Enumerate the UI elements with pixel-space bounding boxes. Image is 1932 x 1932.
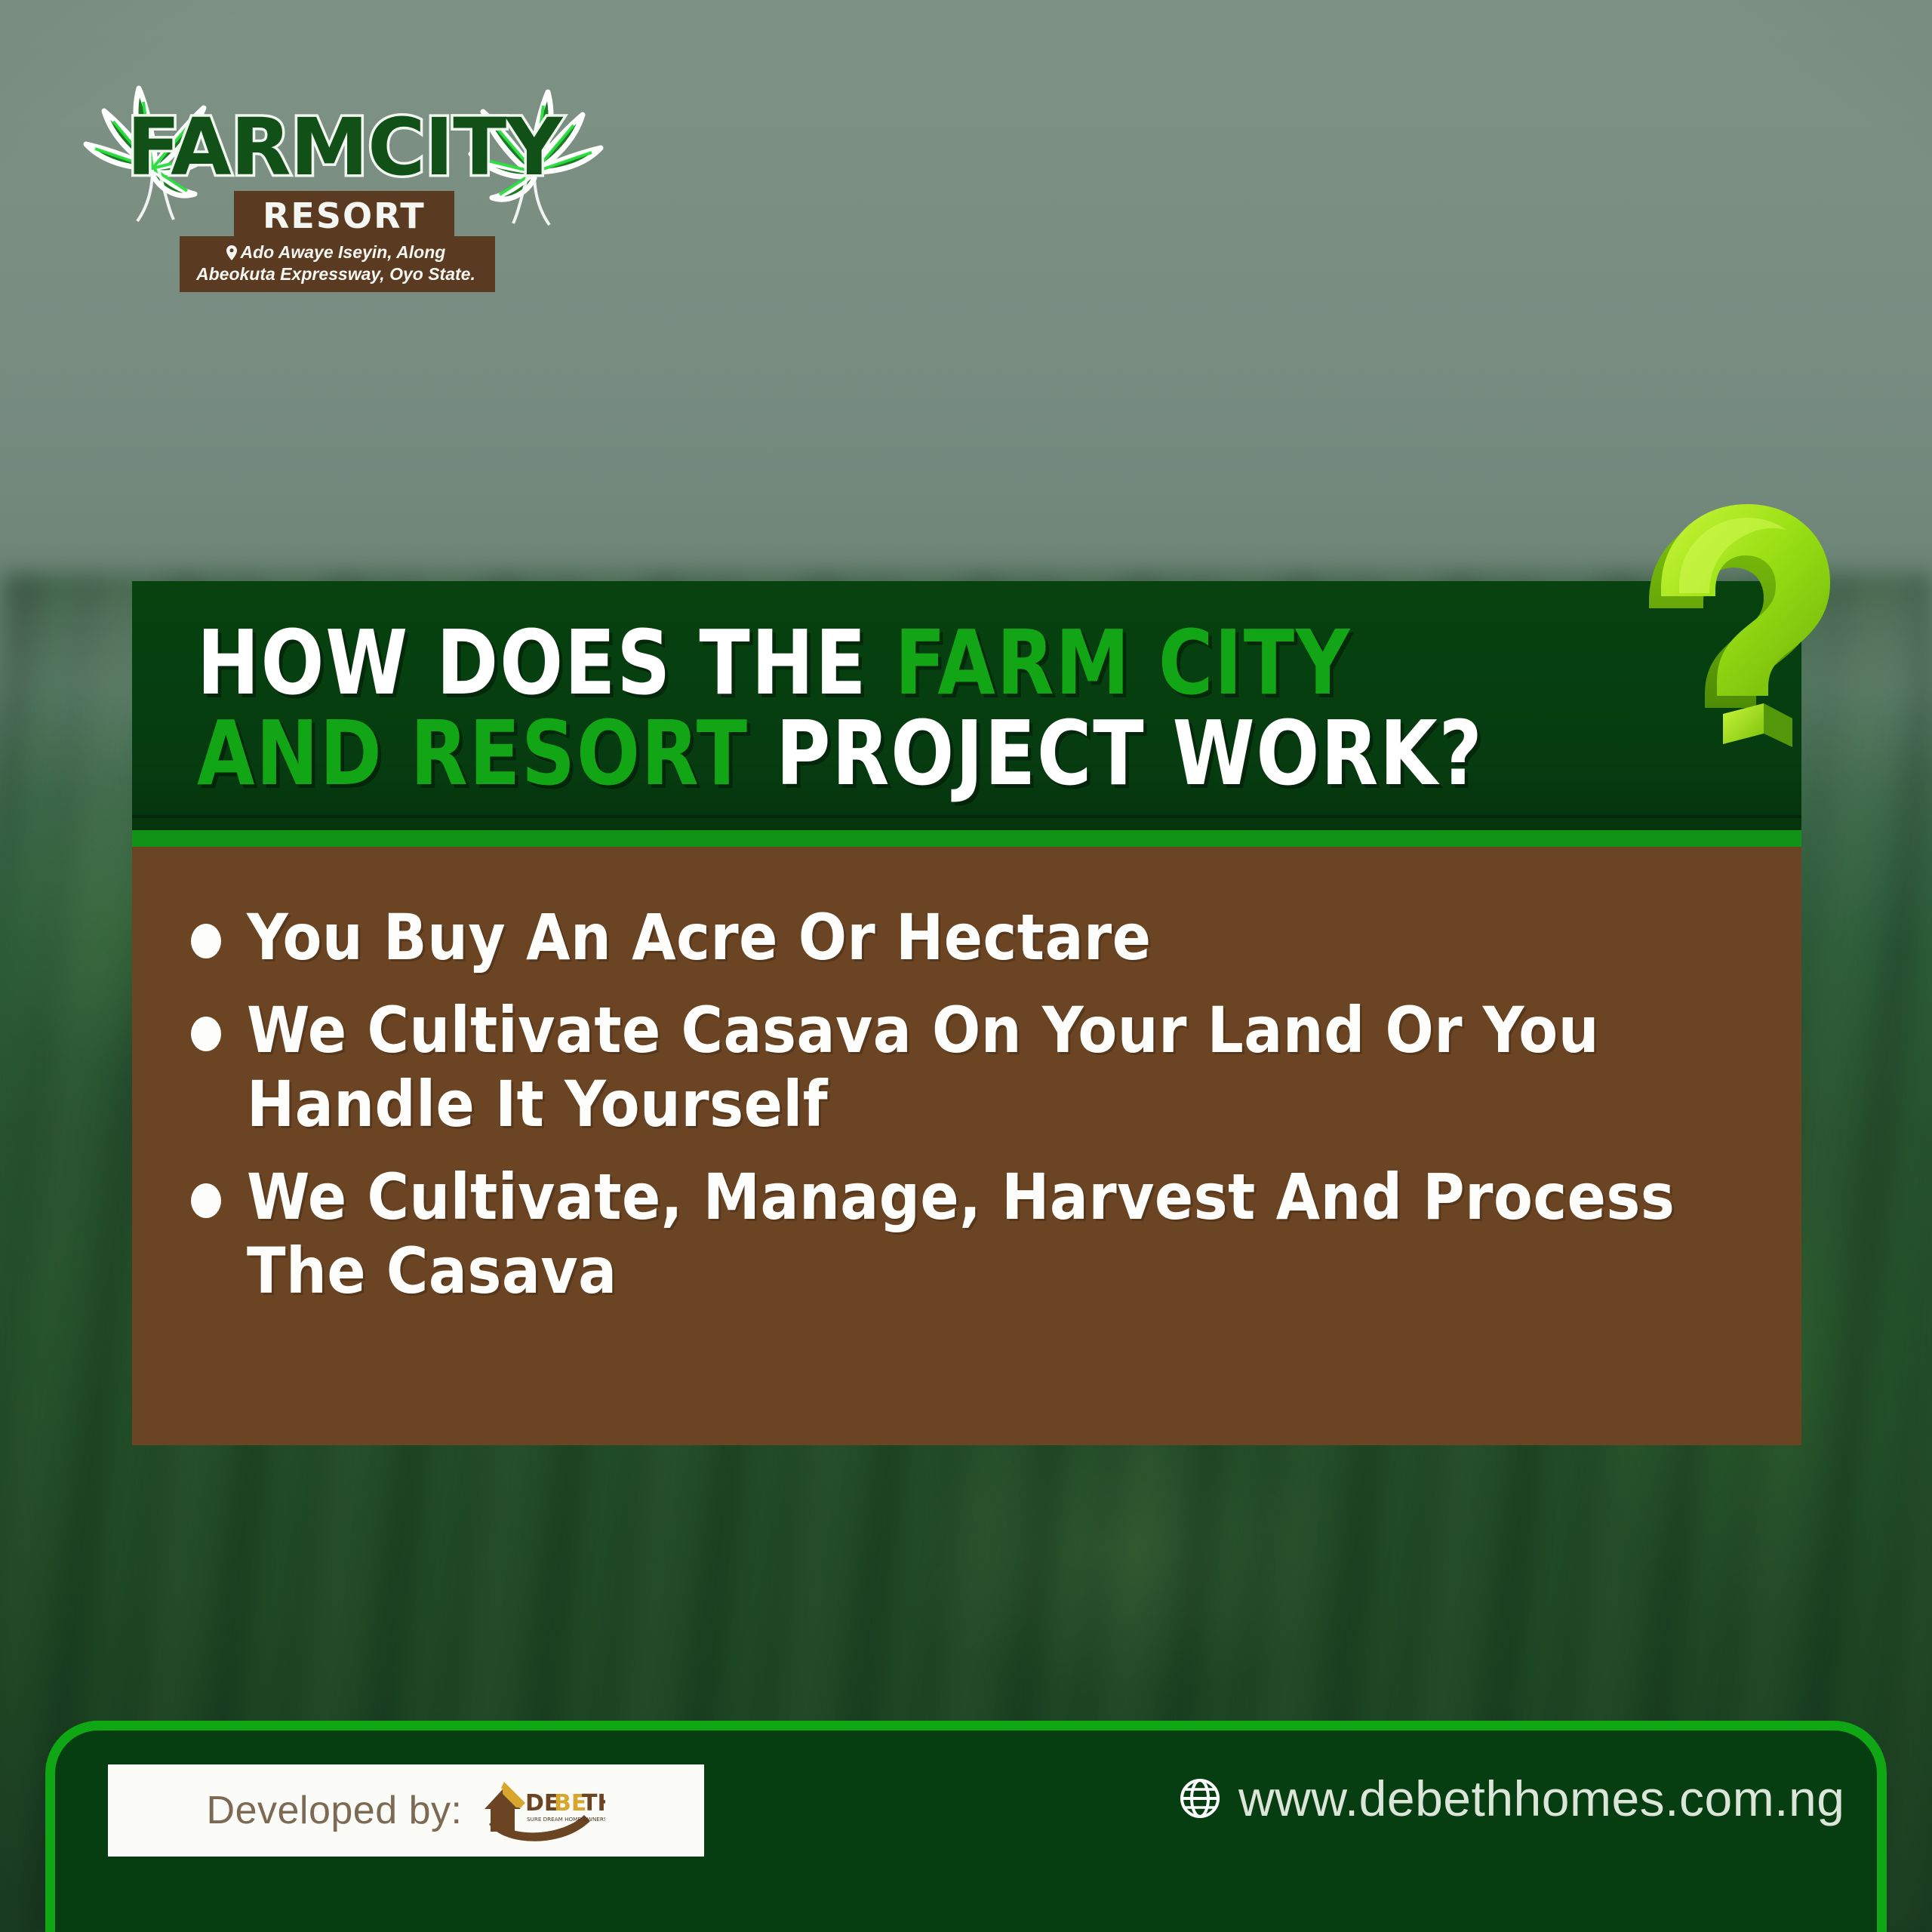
content-card: HOW DOES THE FARM CITY AND RESORT PROJEC…	[132, 581, 1801, 1445]
list-item: You Buy An Acre Or Hectare	[182, 901, 1746, 974]
headline-segment-white-1: HOW DOES THE	[197, 611, 895, 715]
developed-by-box: Developed by: DE BE TH SURE DREAM HOME O…	[108, 1764, 704, 1857]
footer-content: Developed by: DE BE TH SURE DREAM HOME O…	[55, 1730, 1877, 1932]
headline-segment-white-2: PROJECT WORK?	[749, 701, 1484, 805]
poster-canvas: FARMCITY RESORT Ado Awaye Iseyin, Along …	[0, 0, 1932, 1932]
bullet-list: You Buy An Acre Or Hectare We Cultivate …	[182, 901, 1746, 1308]
headline-line-1: HOW DOES THE FARM CITY	[197, 617, 1661, 708]
card-green-divider	[132, 830, 1801, 847]
debeth-logo: DE BE TH SURE DREAM HOME OWNERSHIP WITHO…	[478, 1774, 605, 1847]
website-url-text: www.debethhomes.com.ng	[1238, 1770, 1844, 1827]
svg-text:TH: TH	[582, 1790, 605, 1817]
globe-icon	[1180, 1778, 1220, 1819]
logo-address-plate: Ado Awaye Iseyin, Along Abeokuta Express…	[180, 236, 495, 292]
logo-resort-plate: RESORT	[234, 191, 454, 242]
website-link[interactable]: www.debethhomes.com.ng	[1180, 1770, 1844, 1827]
location-pin-icon	[226, 245, 237, 260]
card-body-panel: You Buy An Acre Or Hectare We Cultivate …	[132, 847, 1801, 1445]
question-mark-3d-icon	[1634, 498, 1853, 755]
logo-resort-label: RESORT	[263, 195, 426, 236]
card-header-banner: HOW DOES THE FARM CITY AND RESORT PROJEC…	[132, 581, 1801, 830]
list-item: We Cultivate, Manage, Harvest And Proces…	[182, 1161, 1746, 1308]
headline-segment-green-1: FARM CITY	[895, 611, 1352, 715]
page-title: HOW DOES THE FARM CITY AND RESORT PROJEC…	[197, 617, 1661, 799]
headline-line-2: AND RESORT PROJECT WORK?	[197, 708, 1661, 798]
logo-address-text-1: Ado Awaye Iseyin, Along	[241, 242, 446, 262]
list-item: We Cultivate Casava On Your Land Or You …	[182, 994, 1746, 1141]
logo-address-line-2: Abeokuta Expressway, Oyo State.	[196, 263, 475, 285]
headline-segment-green-2: AND RESORT	[197, 701, 749, 805]
header-bottom-rule	[132, 815, 1801, 818]
logo-wordmark: FARMCITY	[127, 108, 561, 186]
logo-address-line-1: Ado Awaye Iseyin, Along	[196, 241, 475, 263]
farmcity-logo: FARMCITY RESORT Ado Awaye Iseyin, Along …	[83, 72, 566, 260]
footer-bar: Developed by: DE BE TH SURE DREAM HOME O…	[45, 1721, 1887, 1932]
developed-by-label: Developed by:	[207, 1788, 463, 1833]
debeth-tagline: SURE DREAM HOME OWNERSHIP WITHOUT HASSLE	[527, 1816, 605, 1823]
